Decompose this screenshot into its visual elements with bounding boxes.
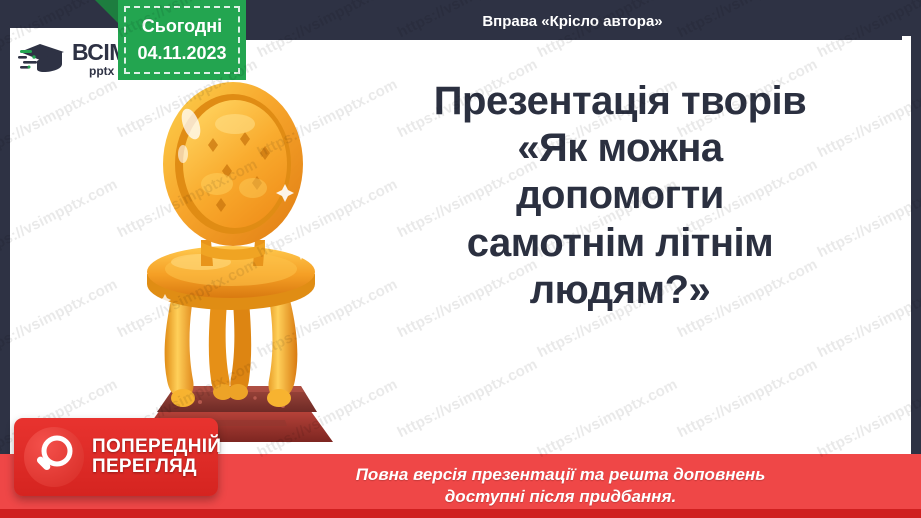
date-badge-value: 04.11.2023	[137, 43, 226, 64]
title-line-4: самотнім літнім	[355, 220, 885, 267]
golden-chair-illustration	[105, 80, 365, 450]
exercise-header-bar: Вправа «Крісло автора»	[243, 2, 902, 40]
magnifier-icon	[24, 427, 84, 487]
preview-badge-line-1: ПОПЕРЕДНІЙ	[92, 437, 221, 457]
banner-bottom-strip	[0, 509, 921, 518]
title-line-5: людям?»	[355, 267, 885, 314]
title-line-2: «Як можна	[355, 125, 885, 172]
slide-title: Презентація творів «Як можна допомогти с…	[355, 78, 885, 314]
preview-badge[interactable]: ПОПЕРЕДНІЙ ПЕРЕГЛЯД	[14, 418, 218, 496]
exercise-header-title: Вправа «Крісло автора»	[482, 13, 662, 30]
title-line-1: Презентація творів	[355, 78, 885, 125]
today-date-badge: Сьогодні 04.11.2023	[118, 0, 246, 80]
banner-line-1: Повна версія презентації та решта доповн…	[356, 464, 766, 486]
banner-line-2: доступні після придбання.	[356, 486, 766, 508]
preview-badge-line-2: ПЕРЕГЛЯД	[92, 457, 221, 477]
presentation-slide: https://vsimpptx.com https://vsimpptx.co…	[0, 0, 921, 518]
date-badge-label: Сьогодні	[142, 16, 222, 37]
graduation-cap-icon	[18, 39, 70, 79]
title-line-3: допомогти	[355, 172, 885, 219]
